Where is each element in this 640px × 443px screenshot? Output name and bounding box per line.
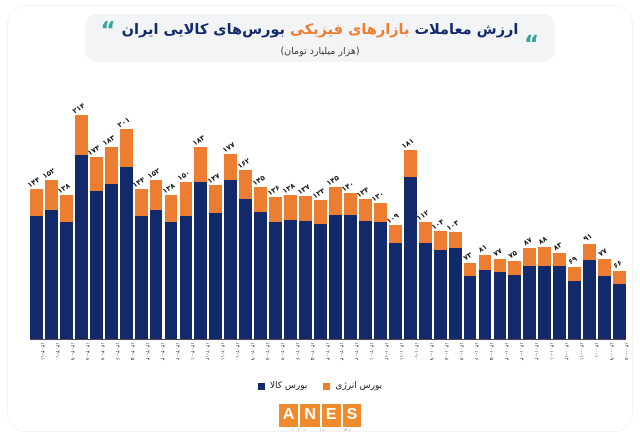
- bar-segment-energy-exchange[interactable]: [135, 189, 148, 216]
- legend-label: بورس کالا: [270, 381, 308, 391]
- bar-segment-energy-exchange[interactable]: [553, 253, 566, 267]
- x-axis-line: [30, 339, 626, 341]
- bar-column[interactable]: ۷۷: [494, 72, 507, 340]
- bar-segment-commodity-exchange[interactable]: [434, 250, 447, 340]
- bar-value-label: ۷۳: [462, 250, 474, 262]
- chart-card: “ ارزش معاملات بازارهای فیزیکی بورس‌های …: [8, 6, 632, 431]
- bar-value-label: ۱۴۴: [26, 174, 42, 189]
- legend-item[interactable]: بورس کالا: [258, 381, 308, 391]
- bar-column[interactable]: ۱۷۷: [224, 72, 237, 340]
- x-axis-tick-label: ۱۴۰۳-۰۶: [105, 342, 118, 376]
- bar-column[interactable]: ۱۷۴: [90, 72, 103, 340]
- sena-logo-letter: S: [343, 404, 362, 427]
- bar-column[interactable]: ۲۱۴: [75, 72, 88, 340]
- x-axis-tick-label: ۱۴۰۳-۰۹: [60, 342, 73, 376]
- bar-column[interactable]: ۱۸۱: [404, 72, 417, 340]
- sena-logo-subtitle: پایگاه خبری بازار سرمایه ایران: [288, 429, 352, 431]
- bar-value-label: ۶۶: [611, 258, 623, 270]
- x-axis-tick-label: ۱۴۰۱-۱۱: [389, 342, 402, 376]
- bar-segment-energy-exchange[interactable]: [508, 261, 521, 275]
- bar-segment-commodity-exchange[interactable]: [180, 216, 193, 340]
- legend-label: بورس انرژی: [335, 381, 382, 391]
- bar-series-container: ۶۶۷۷۹۱۶۹۸۳۸۸۸۷۷۵۷۷۸۱۷۳۱۰۳۱۰۴۱۱۲۱۸۱۱۰۹۱۳۰…: [30, 72, 626, 340]
- bar-segment-commodity-exchange[interactable]: [464, 276, 477, 340]
- bar-column[interactable]: ۱۸۳: [194, 72, 207, 340]
- x-axis-labels: ۱۴۰۰-۰۸۱۴۰۰-۰۹۱۴۰۰-۱۰۱۴۰۰-۱۱۱۴۰۰-۱۲۱۴۰۱-…: [30, 342, 626, 376]
- bar-segment-energy-exchange[interactable]: [30, 189, 43, 216]
- bar-column[interactable]: ۶۹: [568, 72, 581, 340]
- x-axis-tick-label: ۱۴۰۲-۰۸: [254, 342, 267, 376]
- bar-value-label: ۱۷۴: [86, 143, 102, 158]
- bar-segment-commodity-exchange[interactable]: [314, 224, 327, 340]
- bar-segment-energy-exchange[interactable]: [269, 197, 282, 222]
- bar-value-label: ۱۳۸: [161, 181, 177, 196]
- bar-segment-energy-exchange[interactable]: [404, 150, 417, 177]
- bar-column[interactable]: ۱۳۸: [165, 72, 178, 340]
- bar-column[interactable]: ۱۵۰: [180, 72, 193, 340]
- x-axis-tick-label: ۱۴۰۳-۱۰: [45, 342, 58, 376]
- bar-segment-energy-exchange[interactable]: [90, 157, 103, 191]
- bar-segment-energy-exchange[interactable]: [75, 115, 88, 155]
- bar-segment-energy-exchange[interactable]: [598, 259, 611, 276]
- bar-segment-commodity-exchange[interactable]: [60, 222, 73, 340]
- sena-logo-letter: N: [300, 404, 320, 427]
- bar-value-label: ۱۳۶: [265, 183, 281, 198]
- bar-segment-commodity-exchange[interactable]: [404, 177, 417, 340]
- bar-column[interactable]: ۸۸: [538, 72, 551, 340]
- bar-column[interactable]: ۱۴۵: [329, 72, 342, 340]
- bar-segment-commodity-exchange[interactable]: [494, 272, 507, 340]
- bar-value-label: ۶۹: [566, 254, 578, 266]
- bar-segment-energy-exchange[interactable]: [194, 147, 207, 182]
- bar-value-label: ۱۸۳: [101, 133, 117, 148]
- bar-segment-commodity-exchange[interactable]: [269, 222, 282, 340]
- bar-segment-energy-exchange[interactable]: [314, 200, 327, 224]
- bar-value-label: ۱۷۷: [220, 140, 236, 155]
- x-axis-tick-label: ۱۴۰۲-۰۴: [314, 342, 327, 376]
- bar-segment-commodity-exchange[interactable]: [45, 210, 58, 340]
- quote-open-icon: “: [101, 20, 115, 43]
- bar-value-label: ۱۳۳: [310, 186, 326, 201]
- page-title: ارزش معاملات بازارهای فیزیکی بورس‌های کا…: [122, 22, 519, 38]
- chart-subtitle: (هزار میلیارد تومان): [8, 46, 632, 57]
- bar-segment-commodity-exchange[interactable]: [538, 266, 551, 340]
- bar-segment-commodity-exchange[interactable]: [209, 213, 222, 340]
- bar-value-label: ۸۷: [521, 236, 533, 248]
- bar-value-label: ۱۵۰: [176, 168, 192, 183]
- x-axis-tick-label: ۱۴۰۳-۰۸: [75, 342, 88, 376]
- bar-value-label: ۱۳۷: [295, 182, 311, 197]
- bar-segment-energy-exchange[interactable]: [105, 147, 118, 184]
- x-axis-tick-label: ۱۴۰۳-۰۵: [120, 342, 133, 376]
- x-axis-tick-label: ۱۴۰۱-۰۲: [523, 342, 536, 376]
- sena-logo: SENA: [279, 404, 361, 427]
- bar-segment-energy-exchange[interactable]: [239, 170, 252, 199]
- bar-segment-energy-exchange[interactable]: [464, 263, 477, 276]
- bar-value-label: ۱۶۲: [235, 155, 251, 170]
- bar-segment-commodity-exchange[interactable]: [105, 184, 118, 340]
- title-row: “ ارزش معاملات بازارهای فیزیکی بورس‌های …: [85, 18, 555, 41]
- bar-segment-energy-exchange[interactable]: [60, 195, 73, 222]
- bar-value-label: ۱۰۴: [430, 216, 446, 231]
- bar-segment-commodity-exchange[interactable]: [344, 215, 357, 340]
- x-axis-tick-label: ۱۴۰۰-۰۸: [613, 342, 626, 376]
- bar-value-label: ۸۱: [476, 242, 488, 254]
- x-axis-tick-label: ۱۴۰۱-۰۸: [434, 342, 447, 376]
- bar-segment-energy-exchange[interactable]: [389, 225, 402, 243]
- bar-segment-energy-exchange[interactable]: [224, 154, 237, 180]
- x-axis-tick-label: ۱۴۰۱-۰۵: [479, 342, 492, 376]
- bar-column[interactable]: ۸۷: [523, 72, 536, 340]
- bar-value-label: ۱۳۸: [56, 181, 72, 196]
- sena-logo-letter: E: [322, 404, 341, 427]
- bar-segment-commodity-exchange[interactable]: [165, 222, 178, 340]
- quote-close-icon: ”: [525, 20, 539, 43]
- bar-segment-energy-exchange[interactable]: [299, 196, 312, 221]
- bar-segment-energy-exchange[interactable]: [449, 232, 462, 249]
- bar-segment-commodity-exchange[interactable]: [359, 221, 372, 340]
- x-axis-tick-label: ۱۴۰۱-۰۶: [464, 342, 477, 376]
- bar-value-label: ۱۵۲: [41, 166, 57, 181]
- bar-segment-commodity-exchange[interactable]: [30, 216, 43, 340]
- x-axis-tick-label: ۱۴۰۲-۰۲: [344, 342, 357, 376]
- bar-segment-energy-exchange[interactable]: [479, 255, 492, 270]
- legend-item[interactable]: بورس انرژی: [323, 381, 382, 391]
- bar-column[interactable]: ۱۳۰: [374, 72, 387, 340]
- bar-segment-commodity-exchange[interactable]: [329, 215, 342, 340]
- bar-value-label: ۱۴۰: [340, 179, 356, 194]
- bar-segment-commodity-exchange[interactable]: [374, 222, 387, 340]
- bar-value-label: ۱۳۴: [355, 185, 371, 200]
- bar-column[interactable]: ۱۶۲: [239, 72, 252, 340]
- bar-segment-commodity-exchange[interactable]: [224, 180, 237, 340]
- bar-column[interactable]: ۱۳۶: [269, 72, 282, 340]
- bar-segment-commodity-exchange[interactable]: [508, 275, 521, 340]
- x-axis-tick-label: ۱۴۰۳-۰۱: [180, 342, 193, 376]
- bar-segment-commodity-exchange[interactable]: [254, 212, 267, 340]
- bar-column[interactable]: ۱۳۷: [299, 72, 312, 340]
- bar-value-label: ۸۳: [551, 240, 563, 252]
- title-accent: بازارهای فیزیکی: [290, 22, 409, 38]
- chart-legend: بورس کالابورس انرژی: [8, 381, 632, 391]
- bar-value-label: ۷۵: [506, 248, 518, 260]
- bar-value-label: ۱۰۳: [445, 218, 461, 233]
- bar-column[interactable]: ۶۶: [613, 72, 626, 340]
- bar-segment-energy-exchange[interactable]: [613, 271, 626, 285]
- x-axis-tick-label: ۱۴۰۲-۰۳: [329, 342, 342, 376]
- bar-column[interactable]: ۱۰۴: [434, 72, 447, 340]
- x-axis-tick-label: ۱۴۰۳-۱۱: [30, 342, 43, 376]
- bar-segment-commodity-exchange[interactable]: [598, 276, 611, 340]
- bar-segment-energy-exchange[interactable]: [374, 203, 387, 222]
- bar-column[interactable]: ۸۱: [479, 72, 492, 340]
- bar-value-label: ۹۱: [581, 231, 593, 243]
- bar-column[interactable]: ۱۵۲: [150, 72, 163, 340]
- bar-segment-commodity-exchange[interactable]: [613, 284, 626, 340]
- bar-segment-energy-exchange[interactable]: [45, 180, 58, 209]
- bar-segment-energy-exchange[interactable]: [583, 244, 596, 260]
- x-axis-tick-label: ۱۴۰۱-۰۱: [538, 342, 551, 376]
- bar-segment-commodity-exchange[interactable]: [135, 216, 148, 340]
- bar-value-label: ۱۳۸: [280, 181, 296, 196]
- bar-column[interactable]: ۱۴۷: [209, 72, 222, 340]
- x-axis-tick-label: ۱۴۰۲-۰۷: [269, 342, 282, 376]
- chart-plot-area: ۶۶۷۷۹۱۶۹۸۳۸۸۸۷۷۵۷۷۸۱۷۳۱۰۳۱۰۴۱۱۲۱۸۱۱۰۹۱۳۰…: [30, 72, 626, 340]
- sena-logo-letter: A: [279, 404, 299, 427]
- x-axis-tick-label: ۱۴۰۲-۰۹: [239, 342, 252, 376]
- bar-segment-commodity-exchange[interactable]: [479, 270, 492, 340]
- bar-segment-energy-exchange[interactable]: [359, 199, 372, 221]
- x-axis-tick-label: ۱۴۰۱-۰۹: [419, 342, 432, 376]
- bar-column[interactable]: ۱۰۳: [449, 72, 462, 340]
- x-axis-tick-label: ۱۴۰۳-۰۲: [165, 342, 178, 376]
- x-axis-tick-label: ۱۴۰۲-۰۱: [359, 342, 372, 376]
- title-suffix: بورس‌های کالایی ایران: [122, 22, 290, 38]
- bar-segment-commodity-exchange[interactable]: [553, 266, 566, 340]
- bar-segment-commodity-exchange[interactable]: [389, 243, 402, 340]
- bar-value-label: ۱۴۵: [250, 173, 266, 188]
- x-axis-tick-label: ۱۴۰۰-۱۲: [553, 342, 566, 376]
- bar-segment-commodity-exchange[interactable]: [120, 167, 133, 340]
- x-axis-tick-label: ۱۴۰۱-۰۷: [449, 342, 462, 376]
- bar-value-label: ۸۸: [536, 234, 548, 246]
- bar-segment-commodity-exchange[interactable]: [284, 220, 297, 340]
- bar-segment-energy-exchange[interactable]: [344, 193, 357, 215]
- bar-column[interactable]: ۲۰۱: [120, 72, 133, 340]
- bar-segment-energy-exchange[interactable]: [254, 187, 267, 211]
- x-axis-tick-label: ۱۴۰۲-۰۶: [284, 342, 297, 376]
- bar-value-label: ۱۱۲: [415, 208, 431, 223]
- x-axis-tick-label: ۱۴۰۱-۱۲: [374, 342, 387, 376]
- bar-column[interactable]: ۷۵: [508, 72, 521, 340]
- bar-value-label: ۷۷: [596, 246, 608, 258]
- bar-column[interactable]: ۱۳۸: [284, 72, 297, 340]
- bar-segment-energy-exchange[interactable]: [568, 267, 581, 281]
- bar-column[interactable]: ۷۳: [464, 72, 477, 340]
- bar-value-label: ۱۴۵: [325, 173, 341, 188]
- bar-column[interactable]: ۱۴۴: [30, 72, 43, 340]
- bar-value-label: ۱۸۳: [191, 133, 207, 148]
- bar-segment-energy-exchange[interactable]: [180, 182, 193, 216]
- bar-column[interactable]: ۱۵۲: [45, 72, 58, 340]
- bar-column[interactable]: ۱۴۵: [254, 72, 267, 340]
- bar-segment-commodity-exchange[interactable]: [523, 266, 536, 340]
- bar-value-label: ۲۱۴: [71, 101, 87, 116]
- bar-column[interactable]: ۱۸۳: [105, 72, 118, 340]
- x-axis-tick-label: ۱۴۰۱-۰۴: [494, 342, 507, 376]
- bar-segment-commodity-exchange[interactable]: [150, 210, 163, 340]
- x-axis-tick-label: ۱۴۰۰-۱۰: [583, 342, 596, 376]
- footer: SENA پایگاه خبری بازار سرمایه ایران: [8, 404, 632, 431]
- x-axis-tick-label: ۱۴۰۳-۰۷: [90, 342, 103, 376]
- bar-column[interactable]: ۷۷: [598, 72, 611, 340]
- bar-segment-energy-exchange[interactable]: [209, 185, 222, 212]
- title-prefix: ارزش معاملات: [409, 22, 518, 38]
- bar-segment-energy-exchange[interactable]: [284, 195, 297, 220]
- bar-value-label: ۱۴۴: [131, 174, 147, 189]
- bar-segment-commodity-exchange[interactable]: [419, 243, 432, 340]
- bar-value-label: ۱۰۹: [385, 211, 401, 226]
- bar-column[interactable]: ۸۳: [553, 72, 566, 340]
- legend-swatch-icon: [258, 383, 265, 390]
- x-axis-tick-label: ۱۴۰۲-۱۱: [209, 342, 222, 376]
- x-axis-tick-label: ۱۴۰۳-۰۴: [135, 342, 148, 376]
- bar-segment-commodity-exchange[interactable]: [583, 260, 596, 340]
- chart-page: “ ارزش معاملات بازارهای فیزیکی بورس‌های …: [0, 0, 640, 443]
- bar-segment-energy-exchange[interactable]: [165, 195, 178, 222]
- bar-value-label: ۷۷: [491, 246, 503, 258]
- bar-column[interactable]: ۹۱: [583, 72, 596, 340]
- bar-segment-commodity-exchange[interactable]: [568, 281, 581, 340]
- bar-value-label: ۱۴۷: [205, 171, 221, 186]
- bar-segment-commodity-exchange[interactable]: [239, 199, 252, 340]
- bar-value-label: ۱۳۰: [370, 189, 386, 204]
- x-axis-tick-label: ۱۴۰۰-۱۱: [568, 342, 581, 376]
- bar-segment-energy-exchange[interactable]: [434, 231, 447, 250]
- x-axis-tick-label: ۱۴۰۳-۰۳: [150, 342, 163, 376]
- x-axis-tick-label: ۱۴۰۲-۰۵: [299, 342, 312, 376]
- bar-segment-energy-exchange[interactable]: [419, 222, 432, 243]
- x-axis-tick-label: ۱۴۰۲-۱۲: [194, 342, 207, 376]
- bar-segment-energy-exchange[interactable]: [150, 180, 163, 209]
- bar-column[interactable]: ۱۳۸: [60, 72, 73, 340]
- bar-column[interactable]: ۱۳۴: [359, 72, 372, 340]
- bar-value-label: ۲۰۱: [116, 114, 132, 129]
- legend-swatch-icon: [323, 383, 330, 390]
- bar-segment-energy-exchange[interactable]: [523, 248, 536, 266]
- x-axis-tick-label: ۱۴۰۱-۰۳: [508, 342, 521, 376]
- bar-column[interactable]: ۱۴۴: [135, 72, 148, 340]
- bar-segment-commodity-exchange[interactable]: [75, 155, 88, 340]
- bar-value-label: ۱۵۲: [146, 166, 162, 181]
- bar-column[interactable]: ۱۳۳: [314, 72, 327, 340]
- bar-column[interactable]: ۱۰۹: [389, 72, 402, 340]
- chart-header: “ ارزش معاملات بازارهای فیزیکی بورس‌های …: [8, 6, 632, 70]
- x-axis-tick-label: ۱۴۰۰-۰۹: [598, 342, 611, 376]
- bar-segment-commodity-exchange[interactable]: [299, 221, 312, 340]
- bar-segment-energy-exchange[interactable]: [538, 247, 551, 266]
- bar-segment-energy-exchange[interactable]: [120, 129, 133, 168]
- bar-column[interactable]: ۱۱۲: [419, 72, 432, 340]
- bar-segment-energy-exchange[interactable]: [494, 259, 507, 272]
- bar-segment-commodity-exchange[interactable]: [449, 248, 462, 340]
- bar-segment-commodity-exchange[interactable]: [194, 182, 207, 340]
- x-axis-tick-label: ۱۴۰۲-۱۰: [224, 342, 237, 376]
- bar-value-label: ۱۸۱: [400, 135, 416, 150]
- bar-segment-commodity-exchange[interactable]: [90, 191, 103, 340]
- bar-segment-energy-exchange[interactable]: [329, 187, 342, 214]
- x-axis-tick-label: ۱۴۰۱-۱۰: [404, 342, 417, 376]
- bar-column[interactable]: ۱۴۰: [344, 72, 357, 340]
